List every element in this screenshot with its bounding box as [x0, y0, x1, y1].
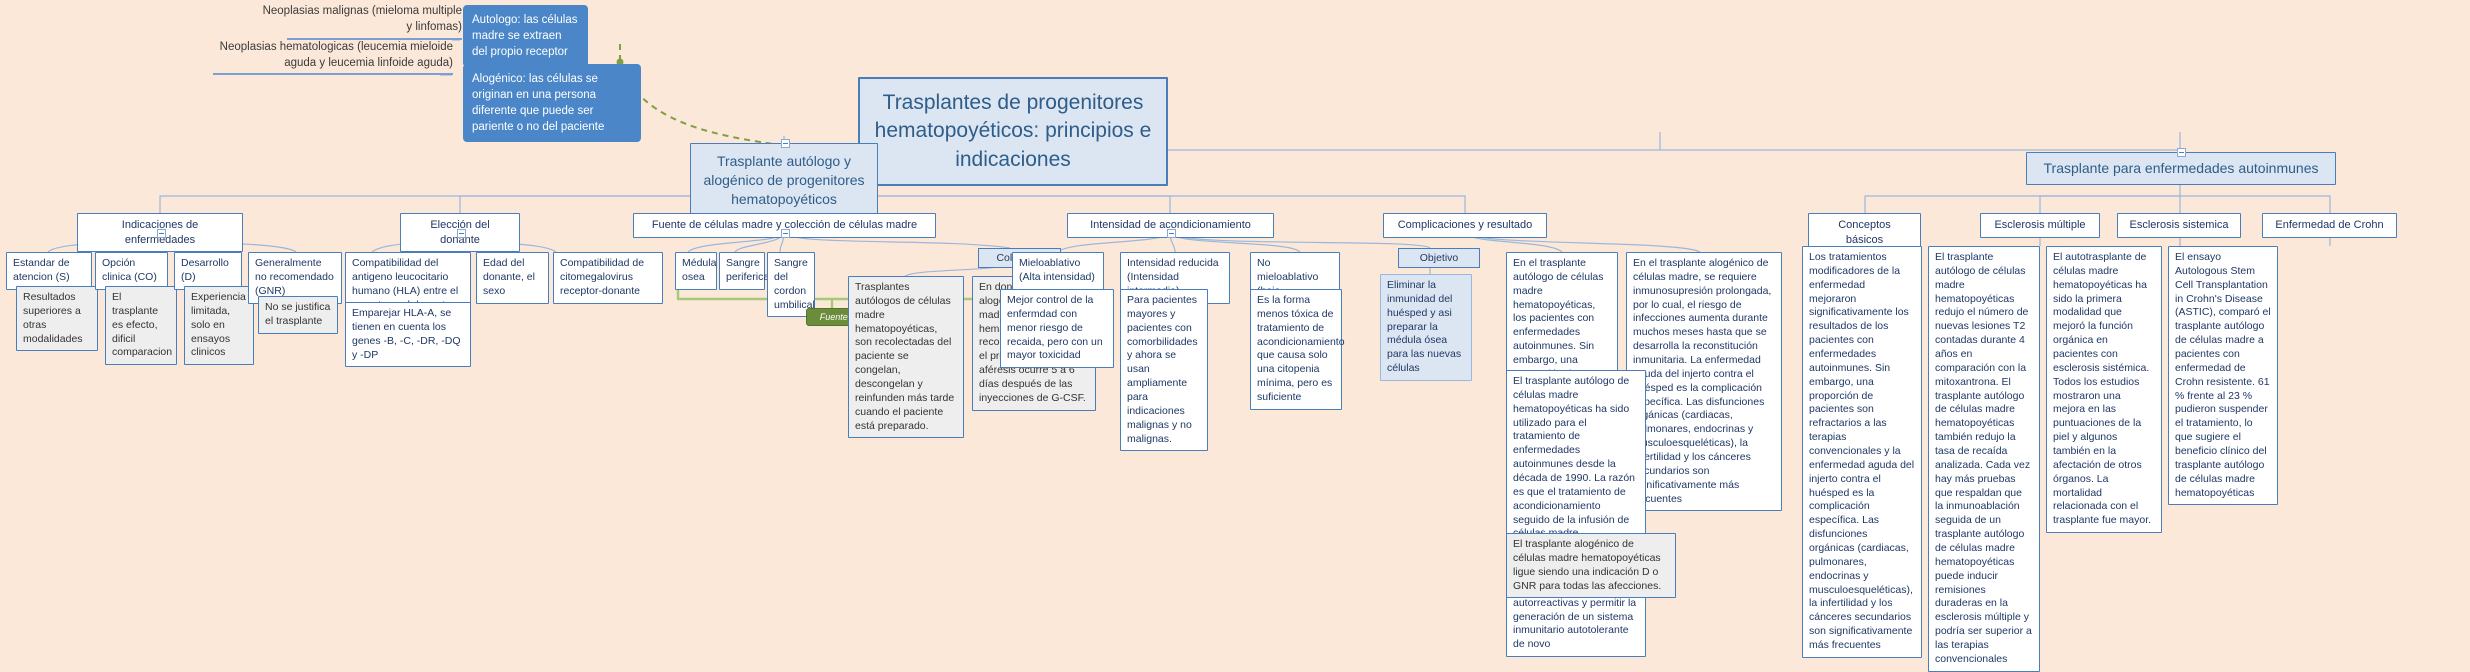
subtitle-autologo-alogenico[interactable]: Trasplante autólogo y alogénico de proge…: [690, 143, 878, 218]
label-neoplasias-malignas: Neoplasias malignas (mieloma multiple y …: [262, 4, 462, 35]
collapse-handle-indicaciones[interactable]: [157, 229, 166, 238]
collapse-handle-subtitle-right[interactable]: [2177, 148, 2186, 157]
page-title: Trasplantes de progenitores hematopoyéti…: [858, 77, 1168, 186]
collapse-handle-intensidad[interactable]: [1167, 229, 1176, 238]
leaf-objetivo: Eliminar la inmunidad del huésped y asi …: [1380, 274, 1472, 381]
leaf-esclerosis-sistemica: El autotrasplante de células madre hemat…: [2046, 246, 2162, 533]
collapse-handle-fuente[interactable]: [781, 229, 790, 238]
leaf-intensidad-reducida: Para pacientes mayores y pacientes con c…: [1120, 289, 1208, 451]
leaf-coleccion-autologos: Trasplantes autólogos de células madre h…: [848, 276, 964, 438]
section-complicaciones[interactable]: Complicaciones y resultado: [1383, 213, 1547, 238]
footnote-bottom: El trasplante alogénico de células madre…: [1506, 533, 1676, 598]
node-compatibilidad-cmv[interactable]: Compatibilidad de citomegalovirus recept…: [553, 252, 663, 304]
box-alogenico[interactable]: Alogénico: las células se originan en un…: [463, 64, 641, 142]
leaf-opcion-clinica: El trasplante es efecto, dificil compara…: [105, 286, 177, 365]
footnote-mid-left: El trasplante autólogo de células madre …: [1506, 370, 1646, 657]
leaf-esclerosis-multiple: El trasplante autólogo de células madre …: [1928, 246, 2040, 672]
chip-objetivo[interactable]: Objetivo: [1398, 248, 1480, 268]
node-medula-osea[interactable]: Médula osea: [675, 252, 717, 290]
leaf-emparejar-hla: Emparejar HLA-A, se tienen en cuenta los…: [345, 302, 471, 367]
label-neoplasias-hematologicas: Neoplasias hematologicas (leucemia mielo…: [205, 40, 453, 71]
leaf-enfermedad-crohn: El ensayo Autologous Stem Cell Transplan…: [2168, 246, 2278, 505]
leaf-mieloablativo: Mejor control de la enfermdad con menor …: [1000, 289, 1114, 368]
leaf-complicaciones-alogenico: En el trasplante alogénico de células ma…: [1626, 252, 1782, 511]
section-esclerosis-sistemica[interactable]: Esclerosis sistemica: [2117, 213, 2241, 238]
section-enfermedad-crohn[interactable]: Enfermedad de Crohn: [2262, 213, 2397, 238]
box-autologo[interactable]: Autologo: las células madre se extraen d…: [463, 5, 588, 67]
node-desarrollo[interactable]: Desarrollo (D): [174, 252, 242, 290]
node-estandar-atencion[interactable]: Estandar de atencion (S): [6, 252, 92, 290]
leaf-no-mieloablativo: Es la forma menos tóxica de tratamiento …: [1250, 289, 1342, 410]
leaf-estandar-atencion: Resultados superiores a otras modalidade…: [16, 286, 98, 351]
node-edad-donante[interactable]: Edad del donante, el sexo: [476, 252, 549, 304]
section-esclerosis-multiple[interactable]: Esclerosis múltiple: [1980, 213, 2100, 238]
leaf-generalmente-no-recomendado: No se justifica el trasplante: [258, 296, 338, 334]
leaf-desarrollo: Experiencia limitada, solo en ensayos cl…: [184, 286, 254, 365]
leaf-conceptos-basicos: Los tratamientos modificadores de la enf…: [1802, 246, 1922, 658]
node-opcion-clinica[interactable]: Opción clinica (CO): [95, 252, 168, 290]
node-sangre-periferica[interactable]: Sangre periferica: [719, 252, 765, 290]
collapse-handle-eleccion[interactable]: [457, 229, 466, 238]
collapse-handle-title[interactable]: [781, 139, 790, 148]
node-mieloablativo[interactable]: Mieloablativo (Alta intensidad): [1012, 252, 1104, 290]
label-underline-hematologicas: [213, 73, 453, 75]
